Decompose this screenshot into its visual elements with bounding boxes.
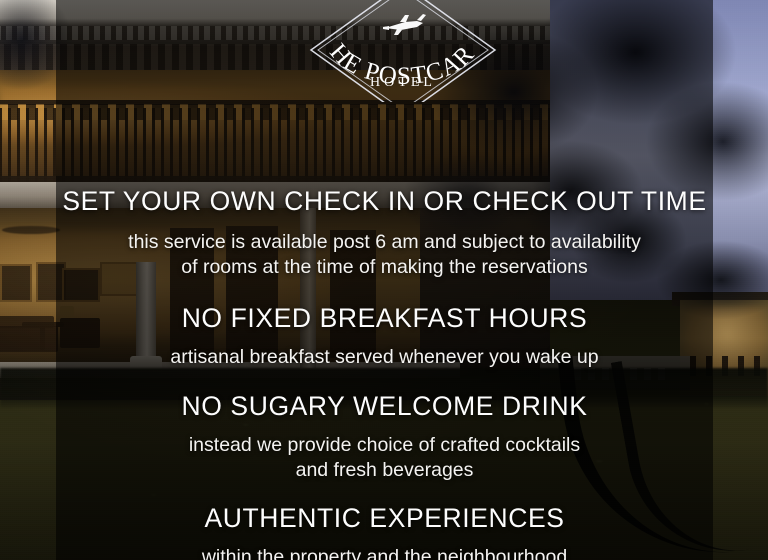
benefit-subtext-line: instead we provide choice of crafted coc… (56, 433, 713, 458)
benefit-block-breakfast: NO FIXED BREAKFAST HOURS artisanal break… (56, 305, 713, 370)
benefit-block-welcome-drink: NO SUGARY WELCOME DRINK instead we provi… (56, 393, 713, 483)
benefit-subtext: this service is available post 6 am and … (56, 230, 713, 280)
benefit-subtext-line: within the property and the neighbourhoo… (56, 545, 713, 560)
benefit-subtext-line: and fresh beverages (56, 458, 713, 483)
benefit-heading: SET YOUR OWN CHECK IN OR CHECK OUT TIME (56, 188, 713, 216)
benefit-subtext: instead we provide choice of crafted coc… (56, 433, 713, 483)
benefit-subtext-line: artisanal breakfast served whenever you … (56, 345, 713, 370)
benefit-subtext-line: this service is available post 6 am and … (56, 230, 713, 255)
benefit-heading: NO FIXED BREAKFAST HOURS (56, 305, 713, 333)
benefit-heading: NO SUGARY WELCOME DRINK (56, 393, 713, 421)
benefit-subtext-line: of rooms at the time of making the reser… (56, 255, 713, 280)
benefit-heading: AUTHENTIC EXPERIENCES (56, 505, 713, 533)
benefit-subtext: within the property and the neighbourhoo… (56, 545, 713, 560)
promo-copy: SET YOUR OWN CHECK IN OR CHECK OUT TIME … (56, 0, 713, 560)
benefit-block-check-in: SET YOUR OWN CHECK IN OR CHECK OUT TIME … (56, 188, 713, 280)
benefit-block-experiences: AUTHENTIC EXPERIENCES within the propert… (56, 505, 713, 560)
promo-page: THE POSTCARD HOTEL SET YOUR OWN CHECK IN… (0, 0, 768, 560)
benefit-subtext: artisanal breakfast served whenever you … (56, 345, 713, 370)
